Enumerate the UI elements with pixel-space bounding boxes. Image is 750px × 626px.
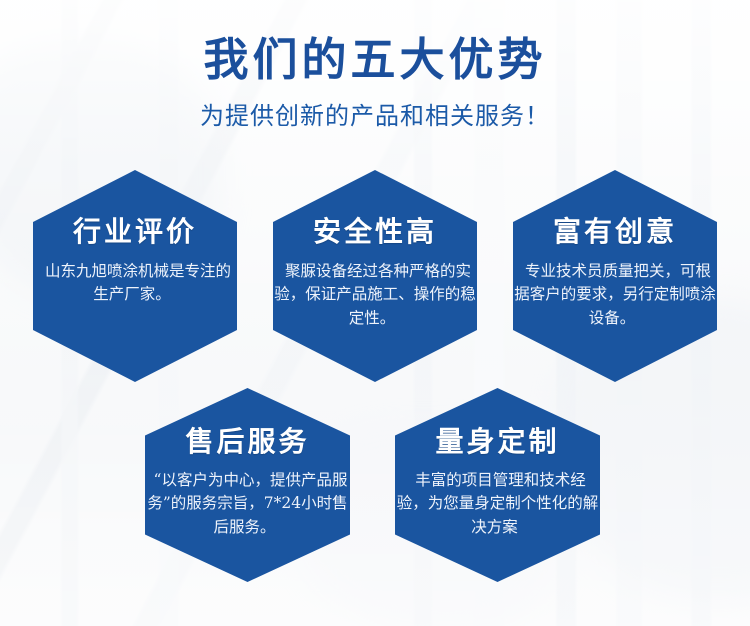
- page-title: 我们的五大优势: [0, 34, 750, 86]
- advantage-body: “以客户为中心，提供产品服务”的服务宗旨，7*24小时售后服务。: [147, 471, 347, 536]
- advantage-title: 安全性高: [273, 210, 477, 250]
- advantage-content: 行业评价 山东九旭喷涂机械是专注的生产厂家。: [33, 210, 237, 307]
- advantage-title: 富有创意: [513, 210, 717, 250]
- advantage-content: 富有创意 专业技术员质量把关，可根据客户的要求，另行定制喷涂设备。: [513, 210, 717, 330]
- advantage-title: 量身定制: [395, 420, 600, 460]
- advantage-title: 行业评价: [33, 210, 237, 250]
- advantage-body: 专业技术员质量把关，可根据客户的要求，另行定制喷涂设备。: [514, 262, 716, 327]
- advantage-content: 安全性高 聚脲设备经过各种严格的实验，保证产品施工、操作的稳定性。: [273, 210, 477, 330]
- advantage-title: 售后服务: [145, 420, 350, 460]
- promo-banner: 我们的五大优势 为提供创新的产品和相关服务！ 行业评价 山东九旭喷涂机械是专注的…: [0, 0, 750, 626]
- advantage-content: 量身定制 丰富的项目管理和技术经验，为您量身定制个性化的解决方案: [395, 420, 600, 539]
- advantage-body: 山东九旭喷涂机械是专注的生产厂家。: [39, 262, 231, 303]
- advantage-content: 售后服务 “以客户为中心，提供产品服务”的服务宗旨，7*24小时售后服务。: [145, 420, 350, 539]
- advantage-body: 丰富的项目管理和技术经验，为您量身定制个性化的解决方案: [397, 471, 599, 536]
- heading-block: 我们的五大优势 为提供创新的产品和相关服务！: [0, 34, 750, 131]
- page-subtitle: 为提供创新的产品和相关服务！: [0, 96, 750, 131]
- advantage-body: 聚脲设备经过各种严格的实验，保证产品施工、操作的稳定性。: [274, 262, 476, 327]
